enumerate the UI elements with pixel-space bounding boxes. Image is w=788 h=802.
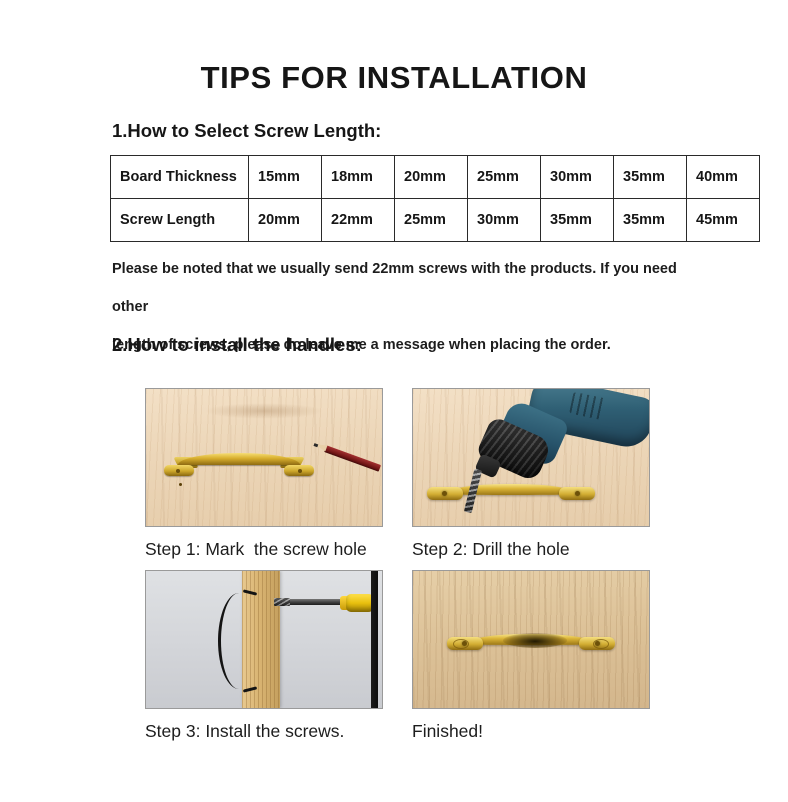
step-cell-4: Finished! — [412, 570, 650, 752]
table-row: Board Thickness 15mm 18mm 20mm 25mm 30mm… — [111, 156, 760, 199]
photo-drill-the-hole — [412, 388, 650, 527]
step-row-top: Step 1: Mark the screw hole — [145, 388, 650, 570]
row-label-board-thickness: Board Thickness — [111, 156, 249, 199]
photo-finished — [412, 570, 650, 709]
cell-screw-length-2: 22mm — [322, 199, 395, 242]
gold-handle-installed — [447, 631, 615, 653]
wood-grain-knot — [204, 403, 324, 419]
step-4-caption: Finished! — [412, 709, 650, 752]
photo-mark-screw-hole — [145, 388, 383, 527]
cell-board-thickness-1: 15mm — [249, 156, 322, 199]
screwdriver-tip — [274, 598, 290, 606]
step-cell-3: Step 3: Install the screws. — [145, 570, 383, 752]
cell-screw-length-3: 25mm — [395, 199, 468, 242]
cell-board-thickness-4: 25mm — [468, 156, 541, 199]
photo-install-the-screws — [145, 570, 383, 709]
screw-length-table: Board Thickness 15mm 18mm 20mm 25mm 30mm… — [110, 155, 760, 242]
step-row-bottom: Step 3: Install the screws. — [145, 570, 650, 752]
screwdriver-icon — [274, 595, 380, 611]
power-drill-icon — [475, 388, 650, 493]
cell-screw-length-6: 35mm — [614, 199, 687, 242]
screw-note-line-1: Please be noted that we usually send 22m… — [112, 250, 692, 326]
handle-screw-hole-right — [298, 469, 302, 473]
cell-screw-length-4: 30mm — [468, 199, 541, 242]
cell-board-thickness-2: 18mm — [322, 156, 395, 199]
table-row: Screw Length 20mm 22mm 25mm 30mm 35mm 35… — [111, 199, 760, 242]
section-1-heading: 1.How to Select Screw Length: — [112, 120, 381, 142]
handle-center-sheen — [503, 633, 567, 648]
marked-hole-dot — [179, 483, 182, 486]
step-3-caption: Step 3: Install the screws. — [145, 709, 383, 752]
cell-board-thickness-7: 40mm — [687, 156, 760, 199]
step-cell-1: Step 1: Mark the screw hole — [145, 388, 383, 570]
row-label-screw-length: Screw Length — [111, 199, 249, 242]
installation-tips-page: TIPS FOR INSTALLATION 1.How to Select Sc… — [0, 0, 788, 802]
cell-screw-length-7: 45mm — [687, 199, 760, 242]
step-2-caption: Step 2: Drill the hole — [412, 527, 650, 570]
cell-board-thickness-6: 35mm — [614, 156, 687, 199]
installation-steps: Step 1: Mark the screw hole — [145, 388, 650, 752]
handle-screw-right — [595, 641, 600, 646]
handle-bar — [178, 453, 300, 465]
cell-board-thickness-5: 30mm — [541, 156, 614, 199]
gold-handle — [164, 451, 314, 481]
page-title: TIPS FOR INSTALLATION — [0, 60, 788, 96]
cell-screw-length-5: 35mm — [541, 199, 614, 242]
handle-silhouette — [218, 593, 253, 689]
step-cell-2: Step 2: Drill the hole — [412, 388, 650, 570]
dark-door-edge — [371, 571, 378, 708]
handle-screw-hole-left — [176, 469, 180, 473]
section-2-heading: 2.How to install the handles: — [112, 334, 362, 356]
handle-screw-left — [462, 641, 467, 646]
step-1-caption: Step 1: Mark the screw hole — [145, 527, 383, 570]
cell-board-thickness-3: 20mm — [395, 156, 468, 199]
handle-screw-hole-left — [442, 491, 447, 496]
cell-screw-length-1: 20mm — [249, 199, 322, 242]
